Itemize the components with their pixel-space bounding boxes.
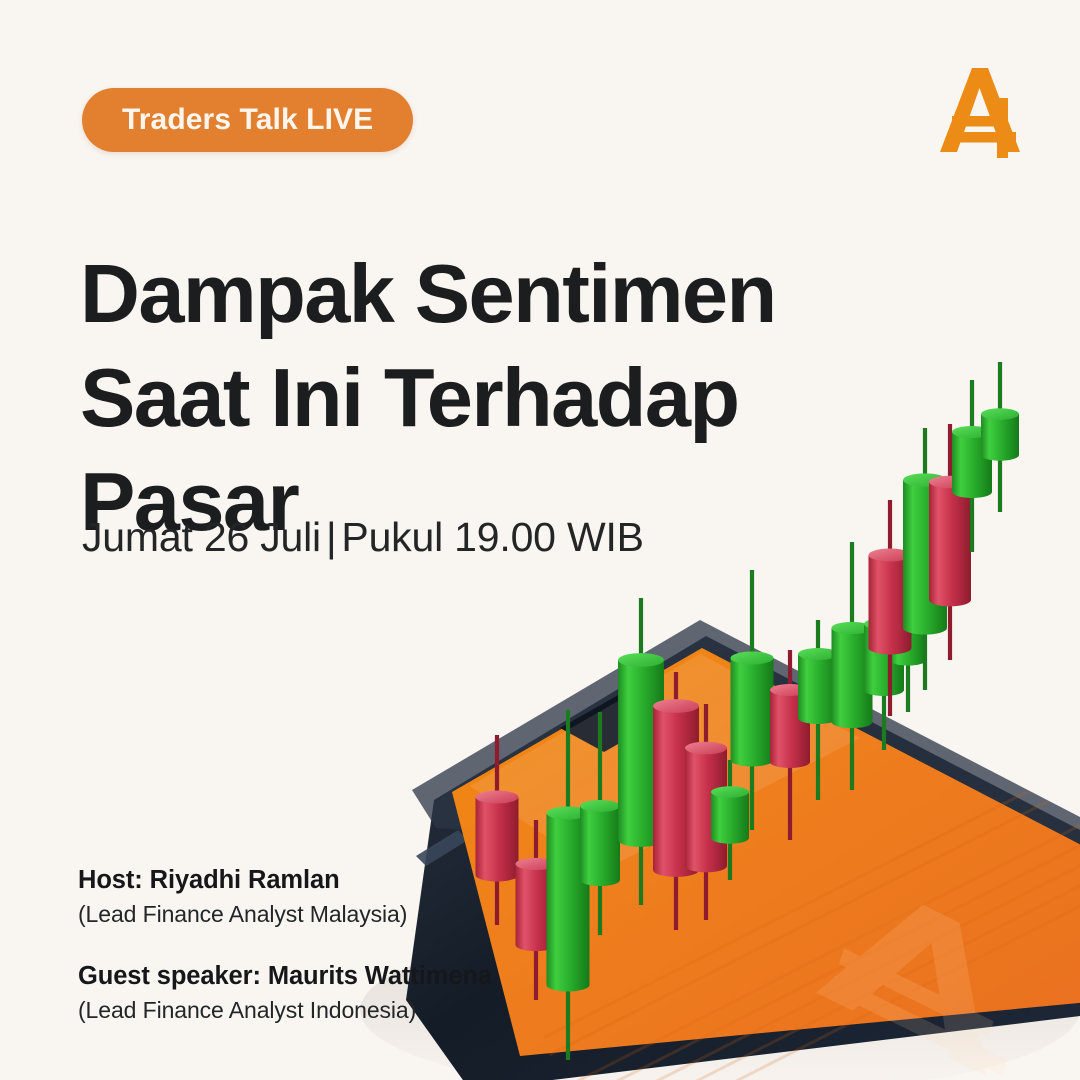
headline-line-2: Saat Ini Terhadap bbox=[80, 346, 800, 450]
host-name: Host: Riyadhi Ramlan bbox=[78, 866, 492, 895]
event-date: Jumat 26 Juli bbox=[82, 514, 321, 560]
schedule-separator: | bbox=[321, 514, 341, 560]
guest-role: (Lead Finance Analyst Indonesia) bbox=[78, 997, 492, 1024]
page-title: Dampak Sentimen Saat Ini Terhadap Pasar bbox=[80, 242, 800, 554]
speaker-guest: Guest speaker: Maurits Wattimena (Lead F… bbox=[78, 962, 492, 1024]
host-role: (Lead Finance Analyst Malaysia) bbox=[78, 901, 492, 928]
live-badge-label: Traders Talk LIVE bbox=[122, 103, 373, 137]
ascendex-a-logo[interactable] bbox=[928, 58, 1032, 162]
guest-name: Guest speaker: Maurits Wattimena bbox=[78, 962, 492, 991]
headline-line-1: Dampak Sentimen bbox=[80, 242, 800, 346]
speaker-list: Host: Riyadhi Ramlan (Lead Finance Analy… bbox=[78, 866, 492, 1024]
event-schedule: Jumat 26 Juli|Pukul 19.00 WIB bbox=[82, 514, 644, 561]
poster-canvas: Traders Talk LIVE Dampak Sentimen Saat I… bbox=[0, 0, 1080, 1080]
live-badge[interactable]: Traders Talk LIVE bbox=[82, 88, 413, 152]
event-time: Pukul 19.00 WIB bbox=[341, 514, 643, 560]
speaker-host: Host: Riyadhi Ramlan (Lead Finance Analy… bbox=[78, 866, 492, 928]
